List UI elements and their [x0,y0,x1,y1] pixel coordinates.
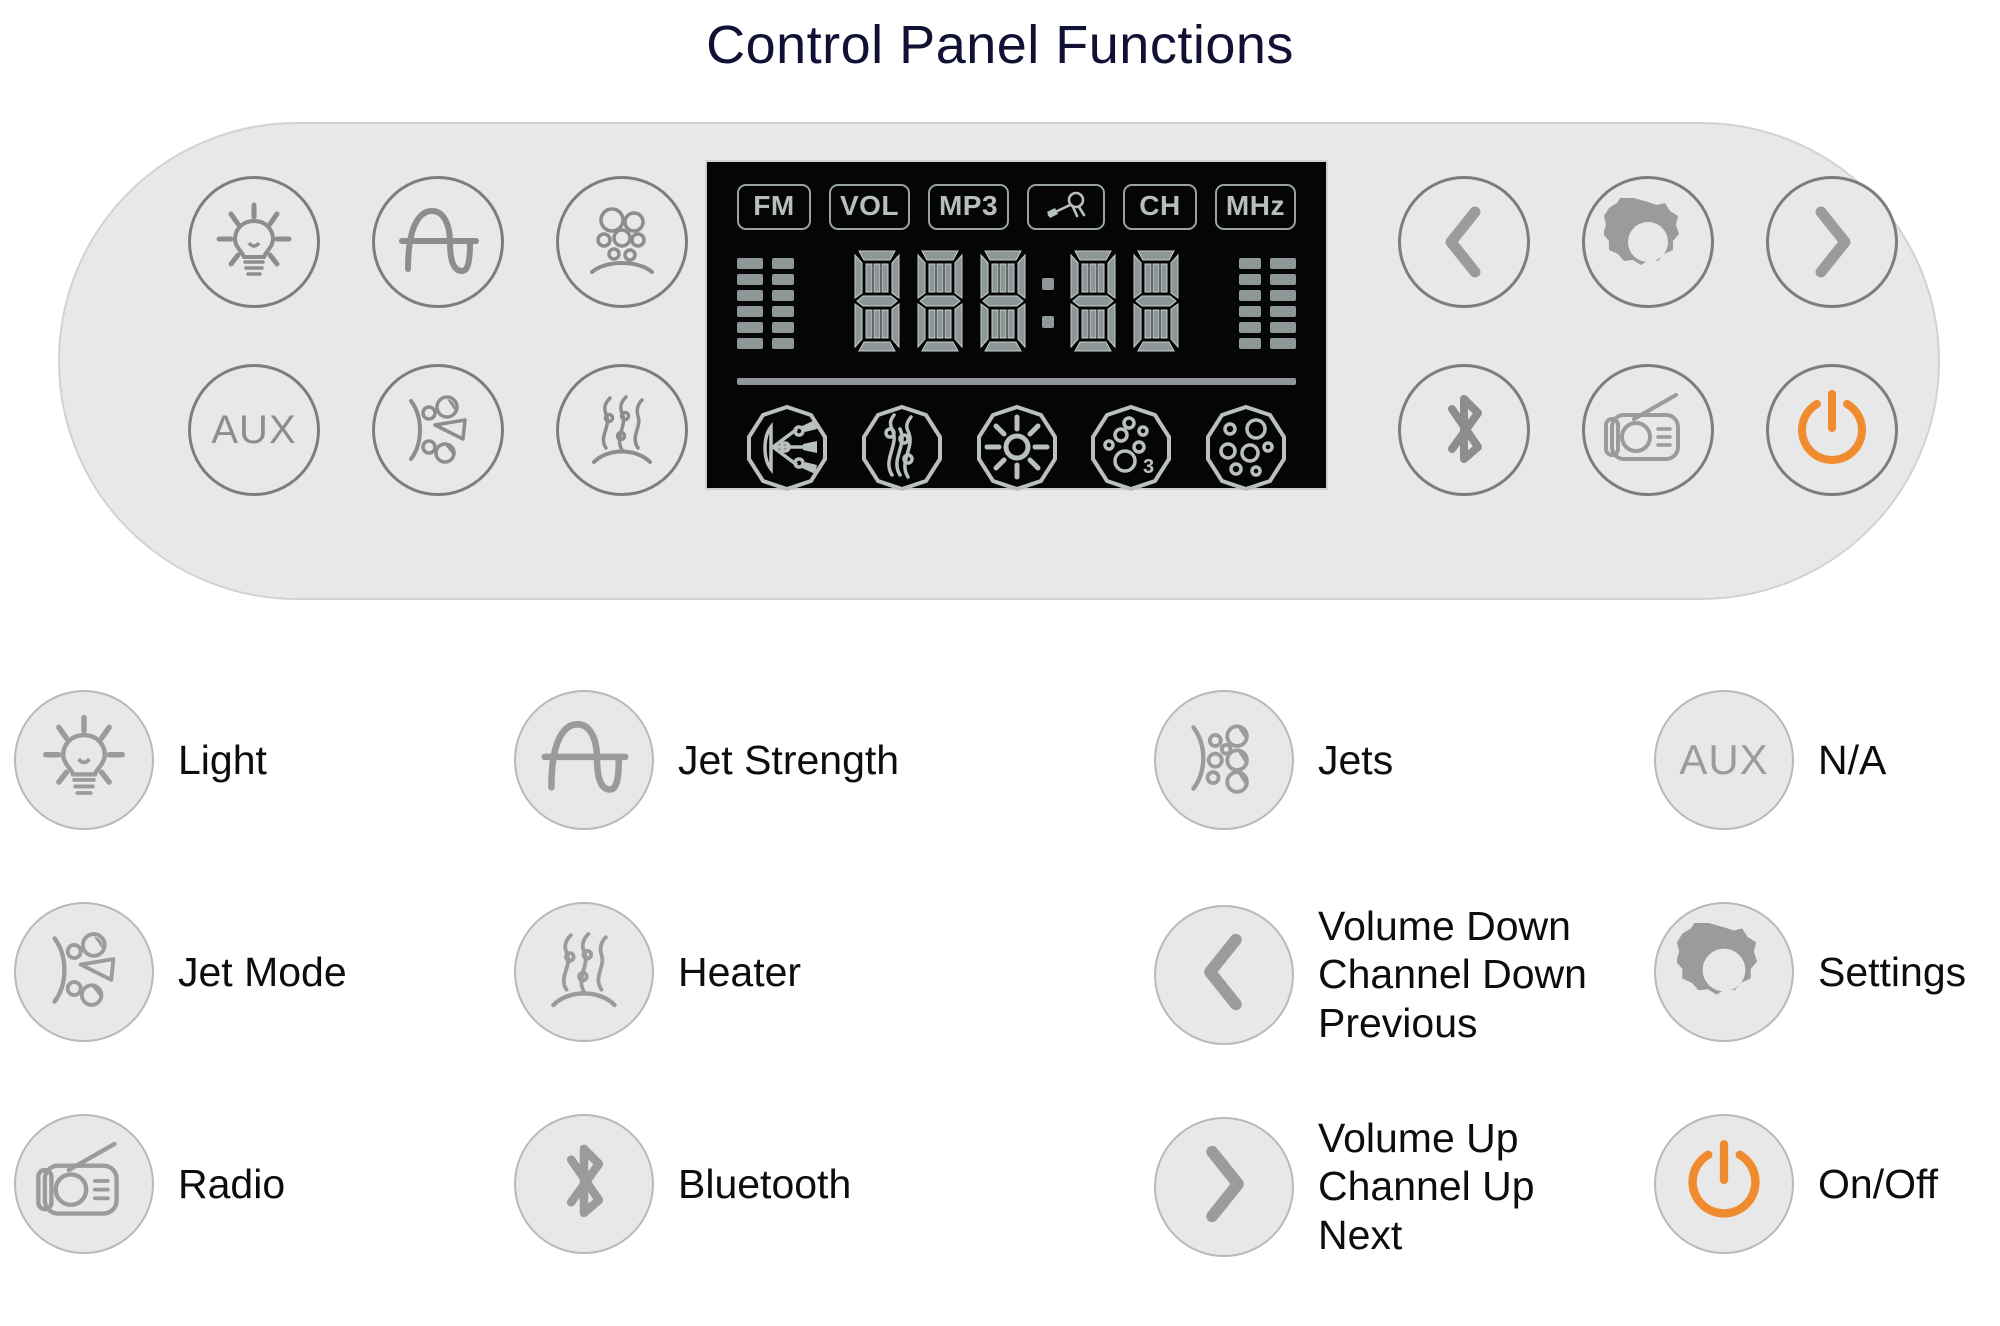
legend-grid: Light Jet Strength [0,690,2000,1326]
legend-label-power: On/Off [1818,1160,1938,1208]
panel-button-radio[interactable] [1582,364,1714,496]
chevron-right-icon [1195,1145,1253,1228]
radio-icon [34,1139,134,1230]
legend-item-heater: Heater [500,902,1140,1042]
legend-label-radio: Radio [178,1160,285,1208]
radio-icon [1602,391,1694,469]
panel-button-settings[interactable] [1582,176,1714,308]
legend-label-heater: Heater [678,948,801,996]
legend-label-aux: N/A [1818,736,1886,784]
legend-icon-radio [14,1114,154,1254]
aux-text-icon: AUX [211,408,296,453]
jet-mode-icon [35,923,133,1022]
legend-icon-heater [514,902,654,1042]
bluetooth-icon [552,1136,616,1233]
lcd-middle-row [731,238,1302,368]
legend-label-jets: Jets [1318,736,1393,784]
light-bulb-icon [211,199,297,285]
panel-button-aux[interactable]: AUX [188,364,320,496]
legend-item-bluetooth: Bluetooth [500,1114,1140,1254]
panel-button-previous[interactable] [1398,176,1530,308]
lcd-digit-3 [975,247,1031,360]
gear-icon [1604,198,1692,286]
legend-label-jet-mode: Jet Mode [178,948,347,996]
lcd-badge-fm: FM [737,184,811,230]
power-icon [1792,388,1872,472]
legend-icon-jets [1154,690,1294,830]
legend-icon-next [1154,1117,1294,1257]
lcd-bargraph-right [1239,258,1296,349]
jets-bubbles-icon [578,198,666,286]
legend-item-aux: AUX N/A [1640,690,2000,830]
lcd-digit-1 [849,247,905,360]
legend-item-volume-up: Volume Up Channel Up Next [1140,1114,1640,1259]
legend-icon-previous [1154,905,1294,1045]
bluetooth-icon [1434,387,1494,473]
lcd-status-icon-row: 3 [731,397,1302,501]
lcd-badge-microphone [1027,184,1105,230]
lcd-badge-vol: VOL [829,184,910,230]
panel-button-jets[interactable] [556,176,688,308]
legend-icon-settings [1654,902,1794,1042]
legend-item-radio: Radio [0,1114,500,1254]
legend-item-jets: Jets [1140,690,1640,830]
sine-wave-icon [392,199,484,285]
legend-icon-jet-mode [14,902,154,1042]
legend-label-volume-up: Volume Up Channel Up Next [1318,1114,1535,1259]
power-icon [1682,1138,1766,1231]
lcd-digit-2 [912,247,968,360]
lcd-display: FM VOL MP3 CH MHz [705,160,1328,490]
panel-button-jet-mode[interactable] [372,364,504,496]
panel-button-power[interactable] [1766,364,1898,496]
light-sun-icon [971,401,1063,498]
legend-item-settings: Settings [1640,902,2000,1042]
legend-label-jet-strength: Jet Strength [678,736,899,784]
legend-label-light: Light [178,736,267,784]
legend-item-volume-down: Volume Down Channel Down Previous [1140,902,1640,1047]
panel-button-bluetooth[interactable] [1398,364,1530,496]
jet-nozzle-icon [741,401,833,498]
heater-waves-icon [578,386,666,474]
lcd-badge-mhz: MHz [1215,184,1296,230]
legend-icon-light [14,690,154,830]
page-title: Control Panel Functions [0,14,2000,76]
legend-label-settings: Settings [1818,948,1966,996]
sine-wave-icon [534,711,634,810]
legend-icon-jet-strength [514,690,654,830]
bubbles-icon [1200,401,1292,498]
aux-text-icon: AUX [1679,736,1768,784]
panel-button-next[interactable] [1766,176,1898,308]
control-panel: AUX [58,122,1940,600]
jet-mode-icon [393,387,483,473]
legend-item-power: On/Off [1640,1114,2000,1254]
lcd-badge-mp3: MP3 [928,184,1009,230]
microphone-key-icon [1039,190,1093,225]
chevron-left-icon [1195,933,1253,1016]
lcd-digit-4 [1065,247,1121,360]
ozone-o3-icon: 3 [1085,401,1177,498]
chevron-right-icon [1805,206,1859,278]
panel-button-jet-strength[interactable] [372,176,504,308]
panel-button-light[interactable] [188,176,320,308]
lcd-bargraph-left [737,258,794,349]
lcd-badge-row: FM VOL MP3 CH MHz [731,182,1302,232]
legend-label-volume-down: Volume Down Channel Down Previous [1318,902,1587,1047]
panel-button-heater[interactable] [556,364,688,496]
lcd-digit-5 [1128,247,1184,360]
legend-item-jet-strength: Jet Strength [500,690,1140,830]
legend-item-light: Light [0,690,500,830]
chevron-left-icon [1437,206,1491,278]
heater-waves-icon [536,922,632,1023]
legend-icon-power [1654,1114,1794,1254]
svg-text:3: 3 [1143,456,1154,478]
lcd-divider [737,378,1296,385]
legend-icon-bluetooth [514,1114,654,1254]
lcd-badge-ch: CH [1123,184,1197,230]
legend-icon-aux: AUX [1654,690,1794,830]
jets-bubbles-icon [1176,710,1272,811]
gear-icon [1677,923,1771,1022]
legend-label-bluetooth: Bluetooth [678,1160,851,1208]
lcd-digits [849,247,1184,360]
heater-flame-waves-icon [856,401,948,498]
light-bulb-icon [37,711,131,810]
legend-item-jet-mode: Jet Mode [0,902,500,1042]
lcd-colon [1038,278,1058,328]
